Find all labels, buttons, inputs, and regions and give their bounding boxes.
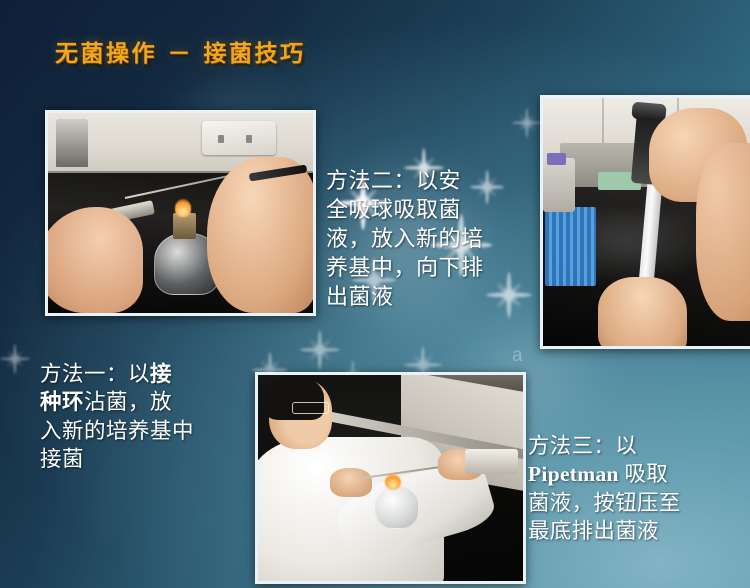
caption-emphasis: Pipetman xyxy=(528,462,619,486)
photo-scene xyxy=(48,113,313,313)
caption-line: Pipetman 吸取 xyxy=(528,460,742,488)
photo-scene xyxy=(258,375,523,581)
media-bottle-cap xyxy=(547,153,566,165)
caption-line: 种环沾菌，放 入新的培养基中 接菌 xyxy=(40,388,248,473)
glasses-icon xyxy=(292,402,328,414)
right-hand xyxy=(207,157,316,313)
watermark: a xyxy=(512,345,524,367)
photo-pipette-filler xyxy=(540,95,750,349)
media-bottle xyxy=(543,158,575,213)
caption-method-1: 方法一：以接种环沾菌，放 入新的培养基中 接菌 xyxy=(40,360,248,474)
photo-researcher-at-bench xyxy=(255,372,526,584)
caption-rest: 吸取 xyxy=(624,462,668,486)
caption-emphasis: 接 xyxy=(150,362,172,386)
photo-scene xyxy=(543,98,750,346)
alcohol-lamp xyxy=(375,486,419,529)
reagent-bottle xyxy=(56,119,88,167)
caption-method-3: 方法三：以Pipetman 吸取菌液，按钮压至 最底排出菌液 xyxy=(528,432,742,546)
sparkle-star-icon xyxy=(512,108,542,138)
slide-canvas: 无菌操作 － 接菌技巧 xyxy=(0,0,750,588)
pipette-aid-top xyxy=(631,102,666,122)
forearm xyxy=(696,143,750,322)
left-hand xyxy=(330,468,372,497)
caption-lead: 方法一：以 xyxy=(40,362,150,386)
flame-icon xyxy=(175,199,191,217)
left-hand xyxy=(45,207,143,313)
culture-tube xyxy=(465,449,518,474)
caption-emphasis: 种环 xyxy=(40,390,84,414)
caption-line: 方法一：以接 xyxy=(40,360,248,388)
caption-rest: 菌液，按钮压至 最底排出菌液 xyxy=(528,489,742,546)
test-tube-rack xyxy=(545,207,596,286)
sparkle-star-icon xyxy=(300,330,340,370)
wall-socket xyxy=(202,121,276,155)
caption-line: 方法三：以 xyxy=(528,432,742,460)
caption-method-2: 方法二：以安 全吸球吸取菌 液，放入新的培 养基中，向下排 出菌液 xyxy=(326,166,536,311)
lower-hand xyxy=(598,277,687,349)
photo-inoculation-loop xyxy=(45,110,316,316)
sparkle-star-icon xyxy=(0,344,30,374)
slide-title: 无菌操作 － 接菌技巧 xyxy=(55,34,306,68)
